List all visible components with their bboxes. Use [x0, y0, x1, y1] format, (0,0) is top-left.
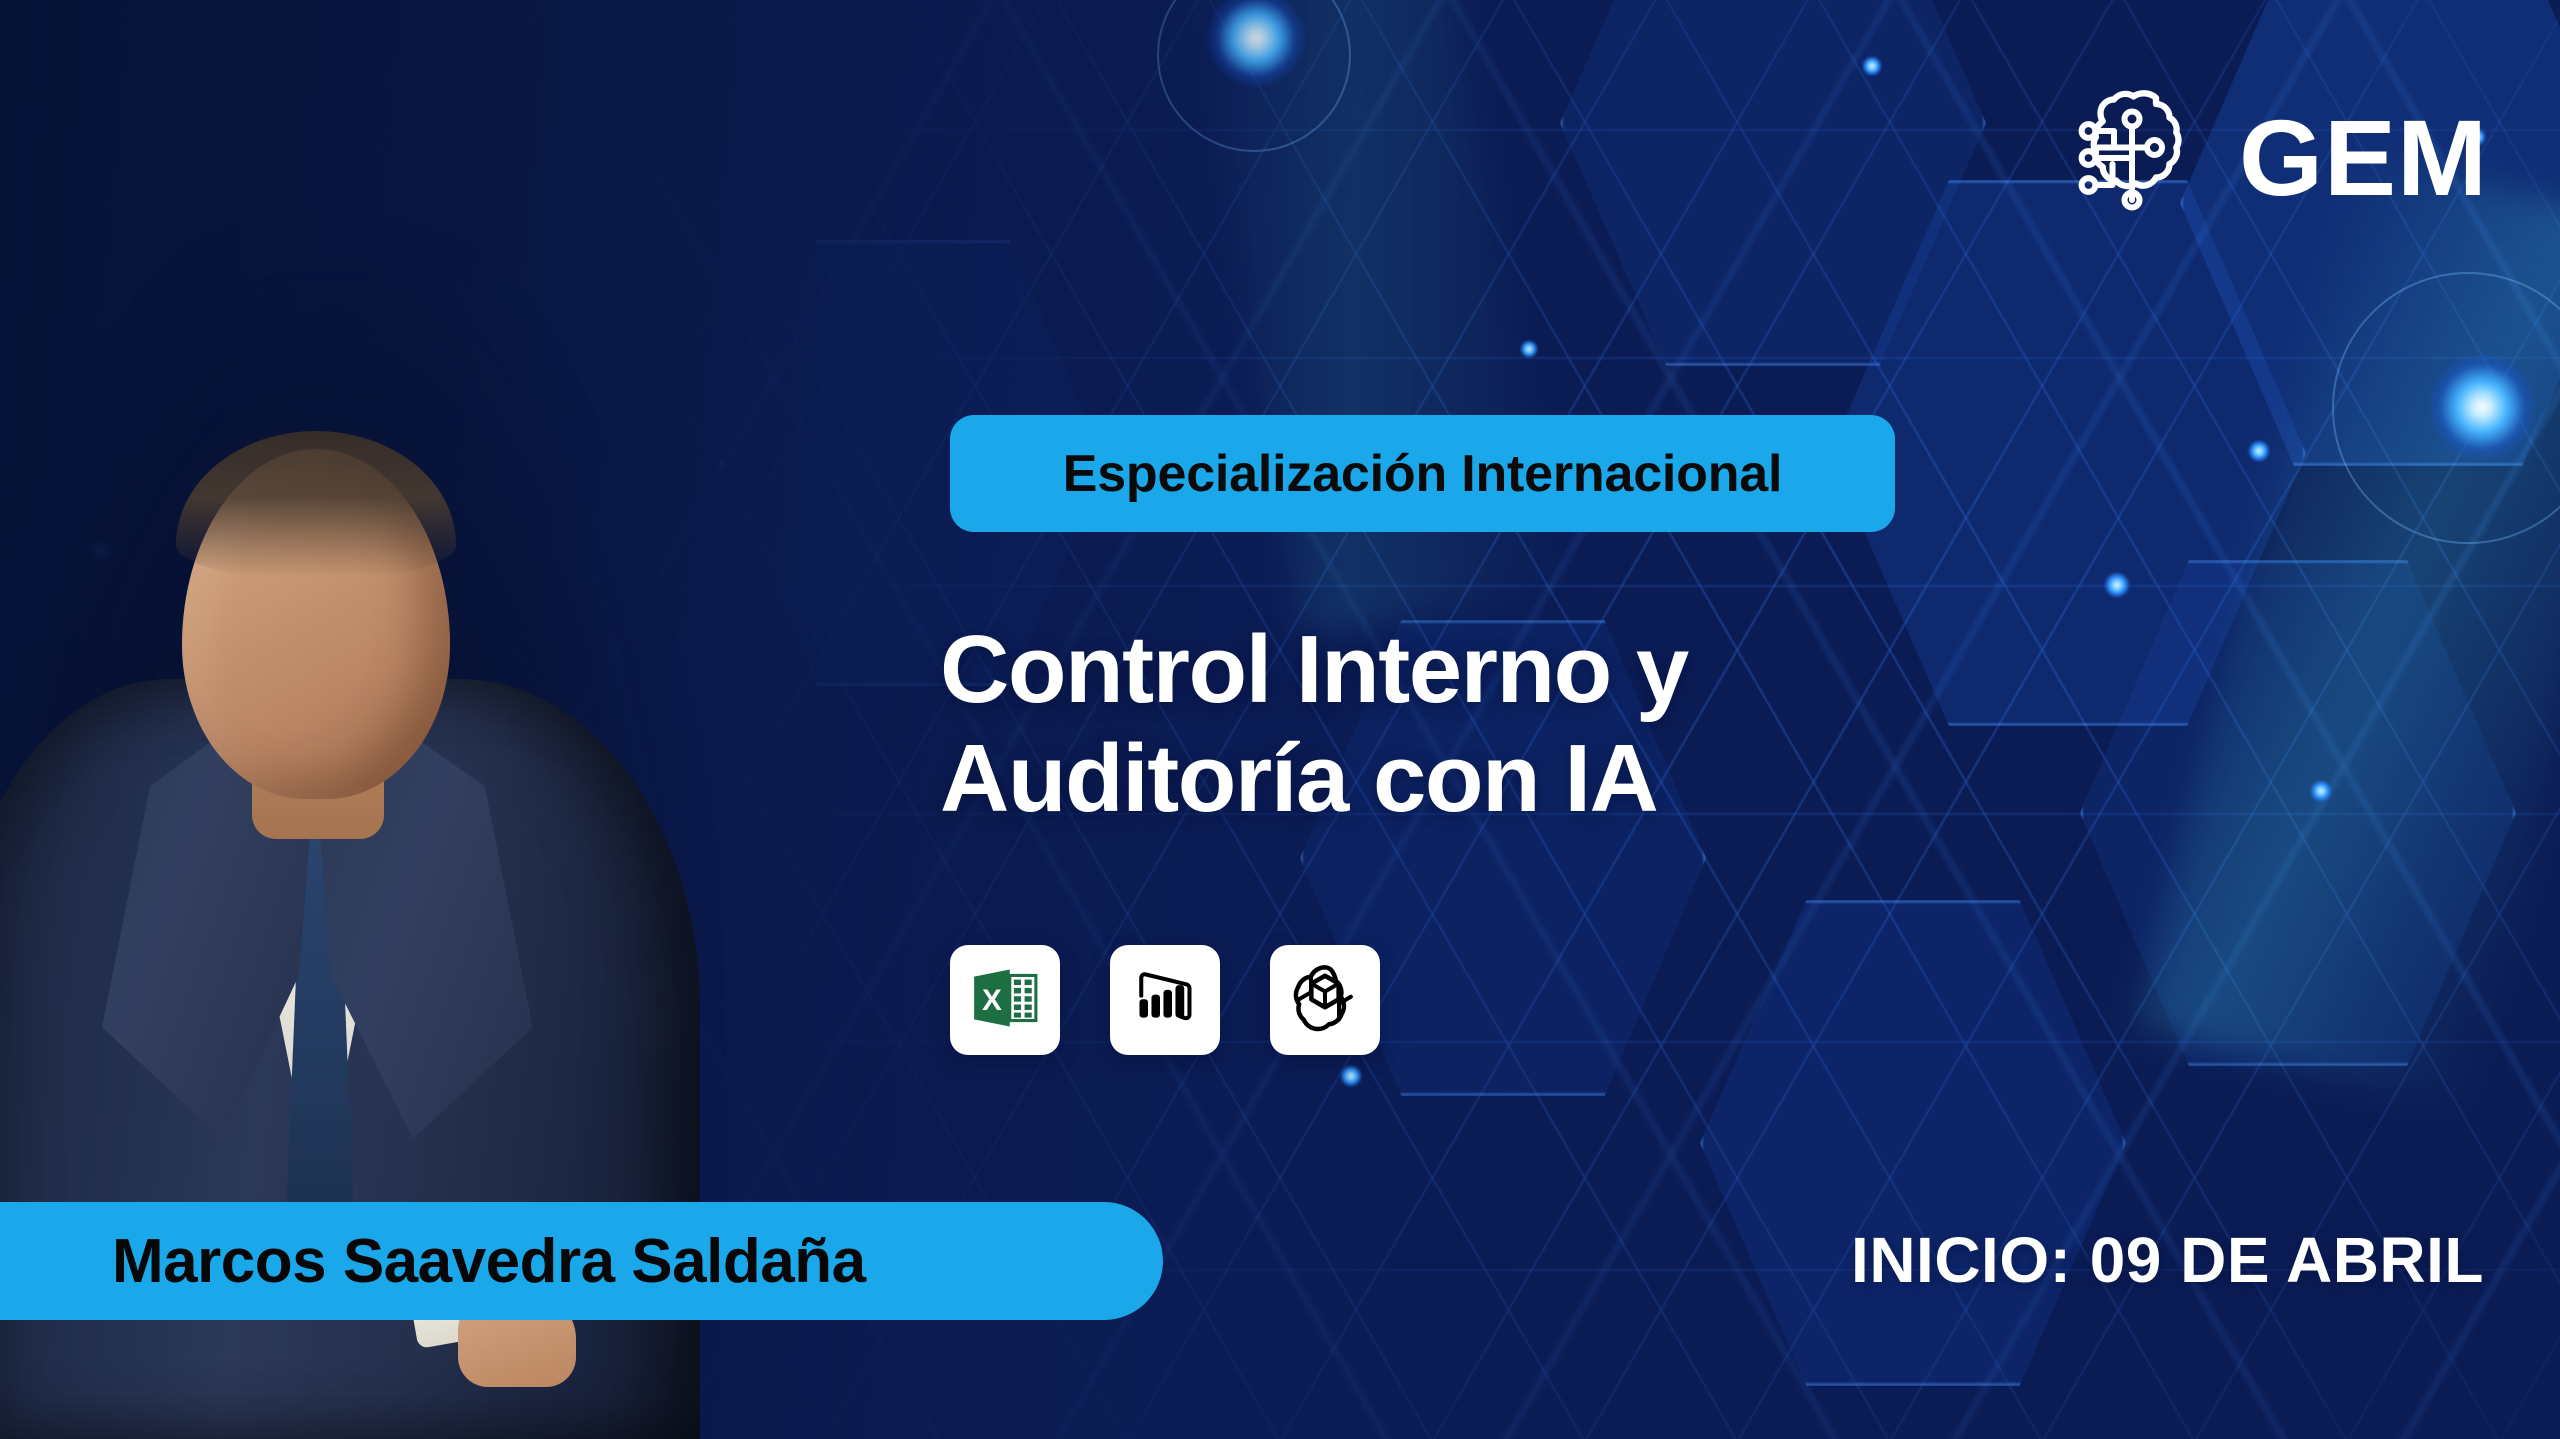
page-title: Control Interno y Auditoría con IA: [940, 615, 2120, 834]
specialization-badge: Especialización Internacional: [950, 415, 1895, 532]
start-date-label: INICIO: 09 DE ABRIL: [1851, 1223, 2484, 1297]
excel-icon: X: [967, 960, 1043, 1041]
ai-brain-circuit-icon: [2063, 80, 2213, 235]
power-bi-icon: [1127, 960, 1203, 1041]
gem-logo: GEM: [2063, 80, 2488, 235]
badge-label: Especialización Internacional: [1063, 444, 1783, 504]
openai-icon: [1285, 958, 1365, 1043]
course-promo-banner: GEM Especialización Internacional Contro…: [0, 0, 2560, 1439]
excel-tile: X: [950, 945, 1060, 1055]
svg-text:X: X: [982, 983, 1002, 1016]
presenter-name: Marcos Saavedra Saldaña: [112, 1226, 866, 1297]
gem-wordmark: GEM: [2239, 104, 2488, 212]
openai-tile: [1270, 945, 1380, 1055]
title-line-2: Auditoría con IA: [940, 724, 2120, 833]
title-line-1: Control Interno y: [940, 615, 2120, 724]
presenter-name-banner: Marcos Saavedra Saldaña: [0, 1202, 1163, 1320]
power-bi-tile: [1110, 945, 1220, 1055]
tool-logo-row: X: [950, 945, 1380, 1055]
